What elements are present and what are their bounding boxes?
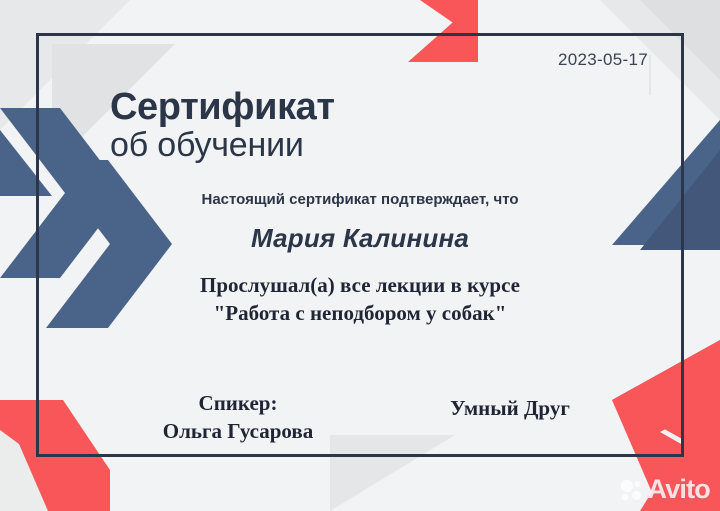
avito-watermark: Avito [618,476,711,503]
page-title: Сертификат [110,88,335,126]
course-block: Прослушал(а) все лекции в курсе "Работа … [0,272,720,327]
speaker-block: Спикер: Ольга Гусарова [118,389,358,446]
organization-name: Умный Друг [400,396,620,421]
avito-dots-icon [618,477,644,503]
course-line-1: Прослушал(а) все лекции в курсе [0,272,720,300]
avito-wordmark: Avito [648,476,711,503]
confirmation-text: Настоящий сертификат подтверждает, что [0,191,720,208]
recipient-name: Мария Калинина [0,223,720,254]
page-subtitle: об обучении [110,126,335,164]
issue-date: 2023-05-17 [558,50,648,70]
certificate-content: 2023-05-17 Сертификат об обучении Настоя… [0,0,720,511]
speaker-name: Ольга Гусарова [118,417,358,445]
title-block: Сертификат об обучении [110,88,335,164]
speaker-label: Спикер: [118,389,358,417]
course-line-2: "Работа с неподбором у собак" [0,300,720,328]
certificate-canvas: 2023-05-17 Сертификат об обучении Настоя… [0,0,720,511]
